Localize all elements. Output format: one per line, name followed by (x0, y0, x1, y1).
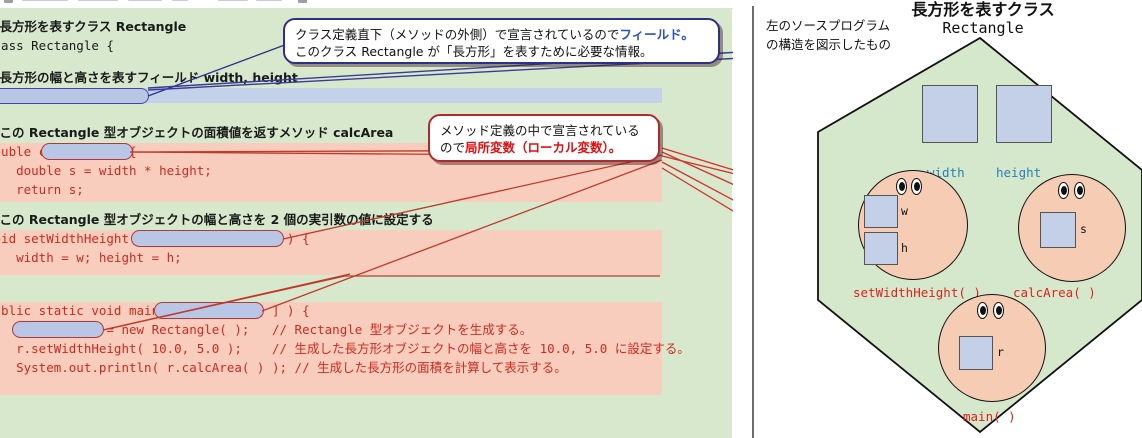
field-box-width (922, 85, 978, 143)
param-label-w: w (901, 204, 908, 218)
method-label-setwidthheight: setWidthHeight( ) (853, 285, 981, 300)
localvar-callout-line-1: メソッド定義の中で宣言されている (440, 122, 648, 139)
toolbar-item-7[interactable] (256, 0, 282, 1)
toolbar-item-4[interactable] (128, 0, 162, 1)
local-label-s: s (1080, 222, 1087, 236)
field-label-height: height (996, 165, 1041, 180)
eye-right-setwidthheight (911, 178, 922, 195)
toolbar-item-2[interactable] (22, 0, 68, 1)
method-label-main: main( ) (963, 409, 1016, 424)
localvar-callout: メソッド定義の中で宣言されている ので局所変数（ローカル変数）。 (428, 114, 660, 162)
toolbar-item-6[interactable] (218, 0, 248, 1)
field-callout: クラス定義直下（メソッドの外側）で宣言されているのでフィールド。 このクラス R… (283, 18, 720, 64)
local-box-s (1040, 212, 1076, 248)
param-label-h: h (901, 241, 908, 255)
eye-left-calcarea (1058, 182, 1069, 199)
toolbar-item-3[interactable] (78, 0, 118, 1)
source-code-slide: // 長方形を表すクラス Rectangle class Rectangle {… (0, 8, 732, 438)
eye-right-main (993, 302, 1004, 319)
slide-leader-lines (0, 8, 732, 438)
eye-right-calcarea (1074, 182, 1085, 199)
local-label-r: r (997, 345, 1004, 359)
screenshot-root: // 長方形を表すクラス Rectangle class Rectangle {… (0, 0, 1142, 438)
param-box-w (864, 195, 898, 228)
param-box-h (864, 232, 898, 265)
toolbar-item-5[interactable] (172, 0, 188, 1)
local-box-r (959, 336, 993, 370)
toolbar-icon-8[interactable] (298, 0, 307, 3)
toolbar-icon-1[interactable] (4, 0, 13, 3)
localvar-callout-line-2: ので局所変数（ローカル変数）。 (440, 139, 648, 156)
eye-left-main (977, 302, 988, 319)
method-label-calcarea: calcArea( ) (1013, 285, 1096, 300)
field-callout-line-2: このクラス Rectangle が「長方形」を表すために必要な情報。 (295, 43, 708, 60)
eye-left-setwidthheight (896, 178, 907, 195)
field-box-height (996, 85, 1052, 143)
field-callout-line-1: クラス定義直下（メソッドの外側）で宣言されているのでフィールド。 (295, 26, 708, 43)
